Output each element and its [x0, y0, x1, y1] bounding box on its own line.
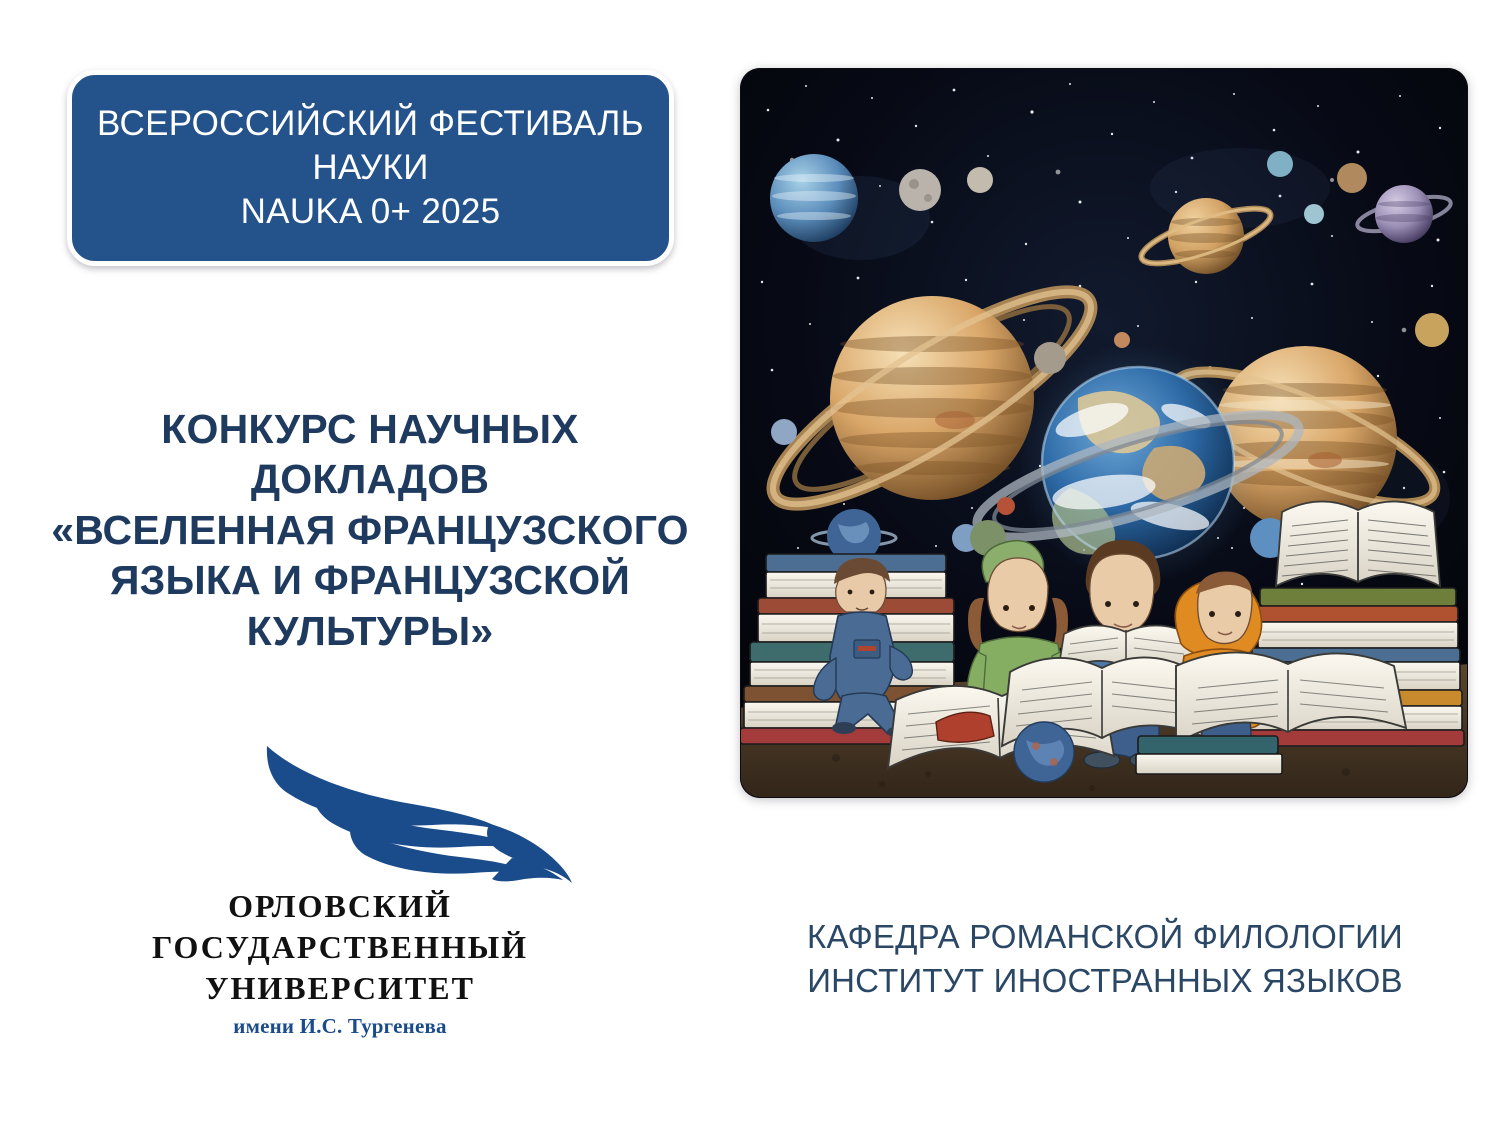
planet-neptune-blue: [770, 154, 858, 242]
university-logo-name: ОРЛОВСКИЙ ГОСУДАРСТВЕННЫЙ УНИВЕРСИТЕТ: [60, 886, 620, 1009]
globe-on-page: [1014, 722, 1074, 782]
left-column: ВСЕРОССИЙСКИЙ ФЕСТИВАЛЬ НАУКИ NAUKA 0+ 2…: [0, 0, 735, 1134]
planet-small-teal-1: [1304, 204, 1324, 224]
festival-banner: ВСЕРОССИЙСКИЙ ФЕСТИВАЛЬ НАУКИ NAUKA 0+ 2…: [67, 70, 674, 266]
poster-root: ВСЕРОССИЙСКИЙ ФЕСТИВАЛЬ НАУКИ NAUKA 0+ 2…: [0, 0, 1511, 1134]
department-caption: КАФЕДРА РОМАНСКОЙ ФИЛОЛОГИИ ИНСТИТУТ ИНО…: [760, 915, 1450, 1003]
planet-small-teal-2: [1267, 151, 1293, 177]
university-logo-subtitle: имени И.С. Тургенева: [60, 1014, 620, 1039]
planet-small-gold: [1415, 313, 1449, 347]
planet-small-beige: [967, 167, 993, 193]
festival-banner-text: ВСЕРОССИЙСКИЙ ФЕСТИВАЛЬ НАУКИ NAUKA 0+ 2…: [97, 102, 644, 233]
planet-small-grey: [1034, 342, 1066, 374]
planet-small-blue-left: [771, 419, 797, 445]
planet-grey-moon: [899, 169, 941, 211]
contest-title: КОНКУРС НАУЧНЫХ ДОКЛАДОВ «ВСЕЛЕННАЯ ФРАН…: [40, 404, 700, 656]
planet-small-tan-1: [1337, 163, 1367, 193]
planet-small-red: [997, 497, 1015, 515]
planet-small-dot: [1114, 332, 1130, 348]
orel-university-wing-icon: [60, 740, 620, 890]
space-books-illustration-svg: [740, 68, 1468, 798]
illustration-container: [740, 68, 1468, 798]
open-book-top-right: [1276, 501, 1440, 586]
space-books-illustration: [740, 68, 1468, 798]
closed-book-foreground: [1136, 736, 1282, 774]
university-logo: ОРЛОВСКИЙ ГОСУДАРСТВЕННЫЙ УНИВЕРСИТЕТ им…: [60, 740, 620, 1039]
